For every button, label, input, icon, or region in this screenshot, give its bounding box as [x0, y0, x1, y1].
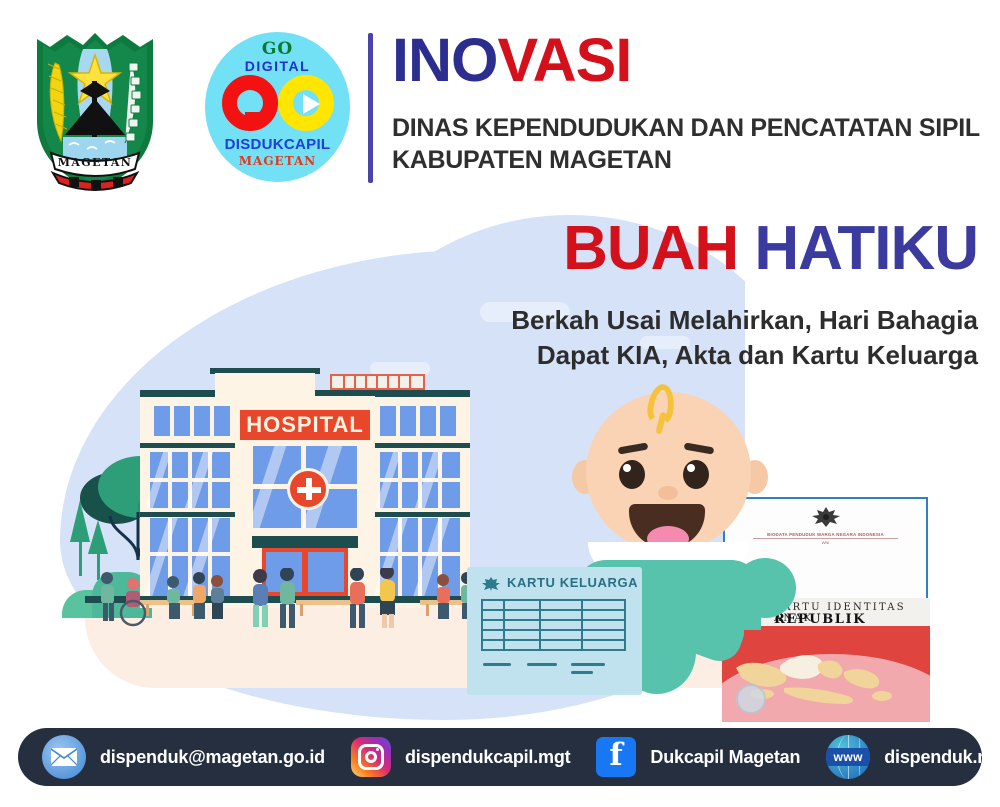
header-subtitle-line2: KABUPATEN MAGETAN — [392, 145, 672, 176]
footer-item-facebook[interactable]: f Dukcapil Magetan — [596, 728, 800, 786]
headline-part2: HATIKU — [754, 214, 978, 283]
kia-seal-icon — [736, 684, 766, 714]
baby-eye-left — [619, 460, 645, 489]
page-title: INOVASI — [392, 30, 631, 91]
tagline-line2: Dapat KIA, Akta dan Kartu Keluarga — [537, 340, 978, 371]
headline-part1: BUAH — [563, 214, 738, 283]
logo-magetan-text: MAGETAN — [239, 155, 317, 167]
instagram-icon — [351, 737, 391, 777]
header-subtitle-line1: DINAS KEPENDUDUKAN DAN PENCATATAN SIPIL — [392, 113, 980, 144]
go-symbol-icon — [222, 75, 334, 133]
magetan-coat-of-arms-icon: MAGETAN — [25, 25, 165, 195]
go-digital-disdukcapil-logo: GO DIGITAL DISDUKCAPIL MAGETAN — [205, 32, 350, 182]
footer-item-email[interactable]: dispenduk@magetan.go.id — [42, 728, 325, 786]
logo-go-text: GO — [262, 41, 293, 58]
tagline-line1: Berkah Usai Melahirkan, Hari Bahagia — [511, 305, 978, 336]
footer-facebook-label: Dukcapil Magetan — [650, 747, 800, 768]
headline: BUAH HATIKU — [563, 218, 978, 280]
footer-website-label: dispenduk.magetan.go.id — [884, 747, 1000, 768]
contact-footer-bar: dispenduk@magetan.go.id dispendukcapil.m… — [18, 728, 982, 786]
page-title-part2: VASI — [497, 26, 631, 94]
website-globe-icon: www — [826, 735, 870, 779]
poster-canvas: MAGETAN GO DIGITAL DISDUKCAPIL MAGETAN I… — [0, 0, 1000, 807]
svg-text:MAGETAN: MAGETAN — [58, 156, 132, 169]
people-silhouettes — [95, 568, 515, 638]
page-title-part1: INO — [392, 26, 497, 94]
hospital-sign-label: HOSPITAL — [240, 410, 370, 440]
garuda-emblem-icon — [809, 505, 843, 529]
kartu-keluarga-card: KARTU KELUARGA — [467, 567, 642, 695]
kartu-keluarga-table — [481, 599, 626, 651]
footer-email-label: dispenduk@magetan.go.id — [100, 747, 325, 768]
garuda-emblem-icon — [481, 576, 501, 592]
medical-cross-icon — [287, 468, 329, 510]
email-icon — [42, 735, 86, 779]
kartu-keluarga-title: KARTU KELUARGA — [507, 575, 638, 590]
logo-disdukcapil-text: DISDUKCAPIL — [225, 137, 331, 152]
footer-item-instagram[interactable]: dispendukcapil.mgt — [351, 728, 570, 786]
footer-instagram-label: dispendukcapil.mgt — [405, 747, 570, 768]
baby-eye-right — [683, 460, 709, 489]
footer-item-website[interactable]: www dispenduk.magetan.go.id — [826, 728, 1000, 786]
facebook-icon: f — [596, 737, 636, 777]
header-divider — [368, 33, 373, 183]
www-label: www — [826, 748, 870, 766]
logo-digital-text: DIGITAL — [245, 59, 310, 73]
